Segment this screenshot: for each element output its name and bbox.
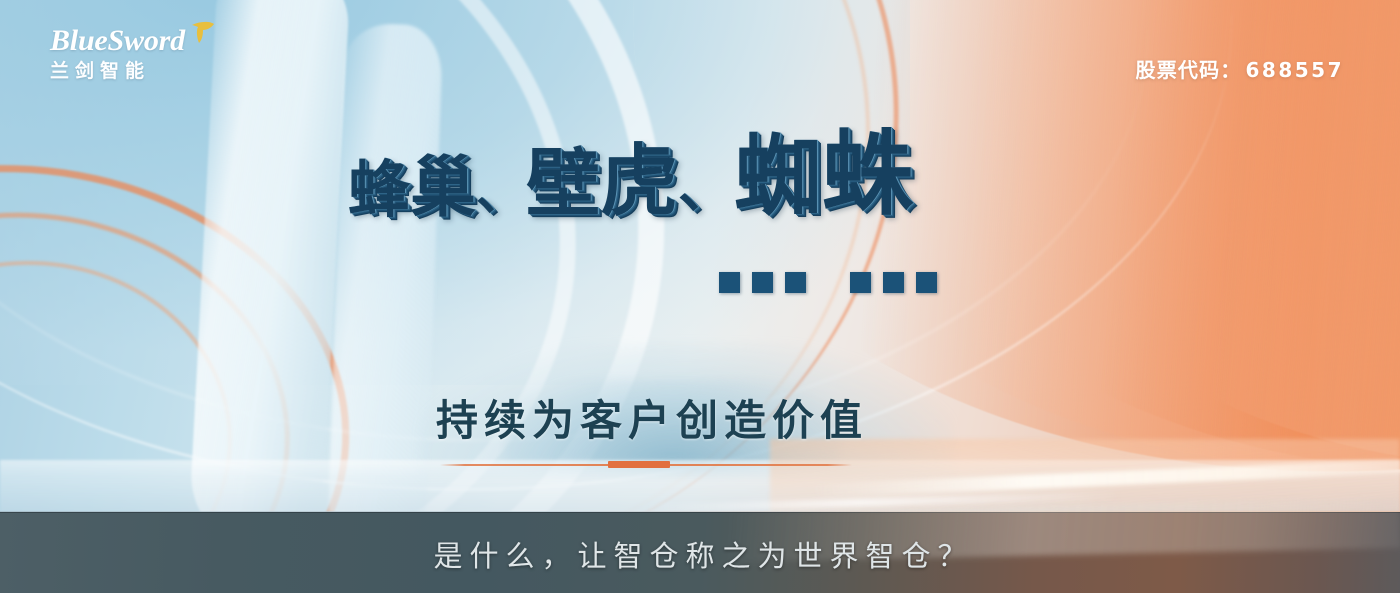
stock-code-number: 688557 [1246, 58, 1345, 82]
tagline-divider-accent [608, 461, 670, 468]
headline-char-6: 蜘 [734, 133, 822, 221]
headline-char-4: 虎 [600, 143, 678, 221]
stock-code: 股票代码：688557 [1136, 54, 1345, 83]
headline-ellipsis [719, 272, 937, 293]
tagline-text: 持续为客户创造价值 [436, 400, 868, 444]
headline: 蜂巢、壁虎、蜘蛛 [348, 129, 914, 221]
brand-logo[interactable]: BlueSword 兰剑智能 [50, 26, 250, 81]
caption-text: 是什么，让智仓称之为世界智仓？ [0, 533, 1400, 575]
ellipsis-square [719, 272, 740, 293]
headline-char-1: 巢 [410, 155, 476, 221]
headline-char-7: 蛛 [822, 129, 914, 221]
ellipsis-square [850, 272, 871, 293]
ellipsis-square [752, 272, 773, 293]
headline-char-3: 壁 [526, 147, 600, 221]
ellipsis-group-right [850, 272, 937, 293]
ellipsis-square [883, 272, 904, 293]
stock-code-label: 股票代码： [1136, 60, 1242, 82]
ellipsis-square [916, 272, 937, 293]
headline-char-2: 、 [476, 167, 526, 221]
headline-char-5: 、 [678, 161, 734, 221]
headline-char-0: 蜂 [348, 159, 410, 221]
ellipsis-group-left [719, 272, 806, 293]
ellipsis-square [785, 272, 806, 293]
logo-chinese-name: 兰剑智能 [50, 62, 250, 81]
logo-wordmark: BlueSword [50, 26, 250, 56]
video-frame: BlueSword 兰剑智能 股票代码：688557 蜂巢、壁虎、蜘蛛 持续为客… [0, 0, 1400, 593]
